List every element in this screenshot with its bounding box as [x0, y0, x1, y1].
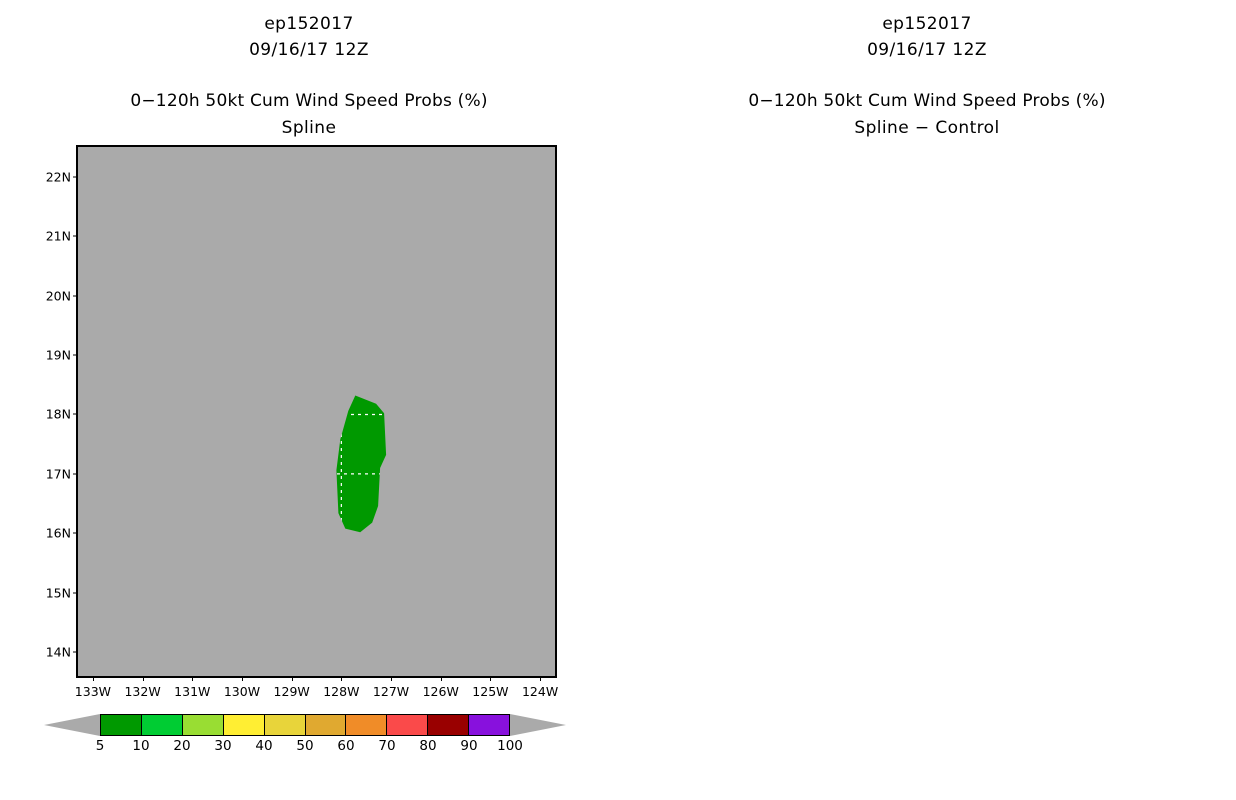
colorbar-segment	[101, 715, 142, 735]
x-axis-tick-mark	[540, 676, 541, 681]
colorbar-tick-label: 5	[96, 738, 105, 754]
panel-spline: ep152017 09/16/17 12Z 0−120h 50kt Cum Wi…	[0, 0, 618, 800]
colorbar-segment	[346, 715, 387, 735]
wind-probability-contour-5pct	[78, 147, 555, 676]
y-axis-tick-label: 19N	[46, 348, 71, 363]
panel-left-storm-id: ep152017	[0, 14, 618, 34]
x-axis-tick-mark	[93, 676, 94, 681]
colorbar-tick-label: 50	[296, 738, 313, 754]
colorbar-probability: 5102030405060708090100	[45, 712, 565, 772]
y-axis-tick-mark	[73, 533, 78, 534]
x-axis-tick-label: 129W	[274, 684, 310, 699]
x-axis-tick-label: 131W	[174, 684, 210, 699]
x-axis-tick-label: 130W	[224, 684, 260, 699]
y-axis-tick-label: 14N	[46, 645, 71, 660]
colorbar-segment	[183, 715, 224, 735]
map-canvas-spline	[78, 147, 555, 676]
colorbar-segment	[306, 715, 347, 735]
x-axis-tick-mark	[441, 676, 442, 681]
panel-left-subtitle: Spline	[0, 118, 618, 138]
y-axis-tick-mark	[73, 295, 78, 296]
colorbar-tick-label: 30	[214, 738, 231, 754]
panel-left-datetime: 09/16/17 12Z	[0, 40, 618, 60]
map-plot-spline: 22N21N20N19N18N17N16N15N14N133W132W131W1…	[76, 145, 557, 678]
y-axis-tick-label: 18N	[46, 407, 71, 422]
x-axis-tick-mark	[192, 676, 193, 681]
colorbar-segment	[265, 715, 306, 735]
colorbar-tick-label: 100	[497, 738, 523, 754]
x-axis-tick-label: 124W	[522, 684, 558, 699]
colorbar-segment	[428, 715, 469, 735]
panel-right-subtitle: Spline − Control	[618, 118, 1236, 138]
colorbar-tick-label: 70	[378, 738, 395, 754]
colorbar-segment	[142, 715, 183, 735]
x-axis-tick-label: 132W	[124, 684, 160, 699]
y-axis-tick-mark	[73, 652, 78, 653]
y-axis-tick-mark	[73, 592, 78, 593]
y-axis-tick-mark	[73, 236, 78, 237]
y-axis-tick-label: 16N	[46, 526, 71, 541]
x-axis-tick-label: 133W	[75, 684, 111, 699]
y-axis-tick-mark	[73, 473, 78, 474]
colorbar-tick-labels: 5102030405060708090100	[100, 738, 510, 760]
x-axis-tick-label: 126W	[423, 684, 459, 699]
y-axis-tick-label: 22N	[46, 169, 71, 184]
y-axis-tick-mark	[73, 355, 78, 356]
y-axis-tick-label: 20N	[46, 288, 71, 303]
colorbar-tick-label: 60	[337, 738, 354, 754]
y-axis-tick-label: 21N	[46, 229, 71, 244]
colorbar-segments	[100, 714, 510, 736]
panel-right-title: 0−120h 50kt Cum Wind Speed Probs (%)	[618, 91, 1236, 111]
x-axis-tick-label: 125W	[472, 684, 508, 699]
colorbar-tick-label: 20	[173, 738, 190, 754]
colorbar-low-cap	[44, 714, 100, 736]
x-axis-tick-mark	[391, 676, 392, 681]
panel-left-title: 0−120h 50kt Cum Wind Speed Probs (%)	[0, 91, 618, 111]
y-axis-tick-label: 15N	[46, 585, 71, 600]
y-axis-tick-mark	[73, 176, 78, 177]
y-axis-tick-label: 17N	[46, 466, 71, 481]
colorbar-tick-label: 90	[460, 738, 477, 754]
x-axis-tick-label: 127W	[373, 684, 409, 699]
x-axis-tick-mark	[143, 676, 144, 681]
x-axis-tick-mark	[242, 676, 243, 681]
colorbar-tick-label: 40	[255, 738, 272, 754]
panel-right-storm-id: ep152017	[618, 14, 1236, 34]
x-axis-tick-label: 128W	[323, 684, 359, 699]
colorbar-segment	[387, 715, 428, 735]
x-axis-tick-mark	[341, 676, 342, 681]
colorbar-tick-label: 10	[132, 738, 149, 754]
x-axis-tick-mark	[292, 676, 293, 681]
y-axis-tick-mark	[73, 414, 78, 415]
colorbar-segment	[469, 715, 509, 735]
x-axis-tick-mark	[490, 676, 491, 681]
panel-spline-minus-control: ep152017 09/16/17 12Z 0−120h 50kt Cum Wi…	[618, 0, 1236, 800]
colorbar-segment	[224, 715, 265, 735]
colorbar-high-cap	[510, 714, 566, 736]
panel-right-datetime: 09/16/17 12Z	[618, 40, 1236, 60]
colorbar-tick-label: 80	[419, 738, 436, 754]
